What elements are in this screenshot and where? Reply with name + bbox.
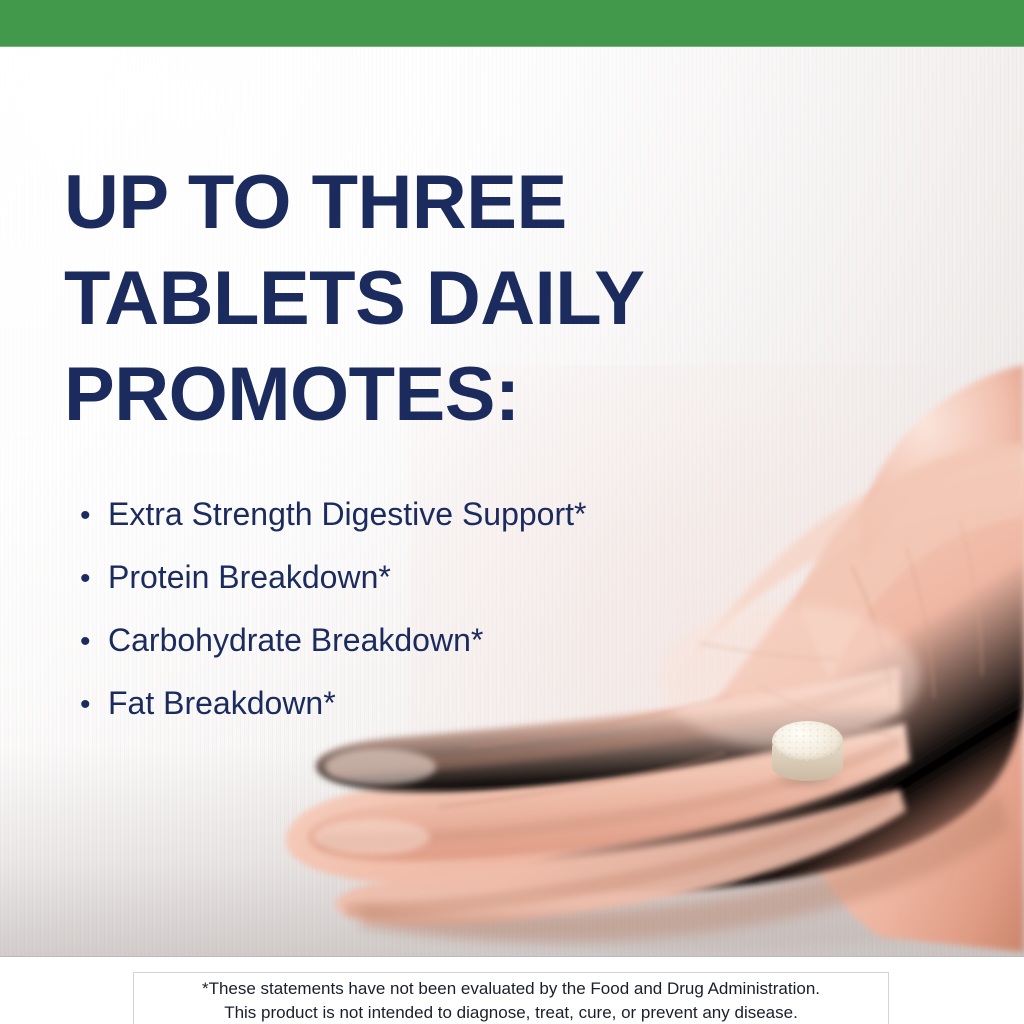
product-info-panel: UP TO THREE TABLETS DAILY PROMOTES: • Ex… [0,0,1024,1024]
green-accent-bar [0,0,1024,46]
bullet-icon: • [80,547,108,610]
product-photo: UP TO THREE TABLETS DAILY PROMOTES: • Ex… [0,47,1024,956]
list-item: • Protein Breakdown* [80,546,800,609]
list-item: • Extra Strength Digestive Support* [80,483,800,546]
benefit-label: Fat Breakdown* [108,672,336,735]
fda-disclaimer-box: *These statements have not been evaluate… [133,972,889,1024]
list-item: • Carbohydrate Breakdown* [80,609,800,672]
benefits-list: • Extra Strength Digestive Support* • Pr… [80,483,800,735]
bullet-icon: • [80,484,108,547]
headline-line-2: TABLETS DAILY [64,251,764,347]
list-item: • Fat Breakdown* [80,672,800,735]
benefit-label: Carbohydrate Breakdown* [108,609,483,672]
bullet-icon: • [80,673,108,736]
benefit-label: Protein Breakdown* [108,546,391,609]
disclaimer-line-2: This product is not intended to diagnose… [140,1001,882,1024]
headline-line-1: UP TO THREE [64,155,764,251]
disclaimer-footer: *These statements have not been evaluate… [0,956,1024,1024]
headline-line-3: PROMOTES: [64,347,764,443]
disclaimer-line-1: *These statements have not been evaluate… [140,977,882,1001]
bullet-icon: • [80,610,108,673]
benefit-label: Extra Strength Digestive Support* [108,483,586,546]
page-title: UP TO THREE TABLETS DAILY PROMOTES: [64,155,764,443]
